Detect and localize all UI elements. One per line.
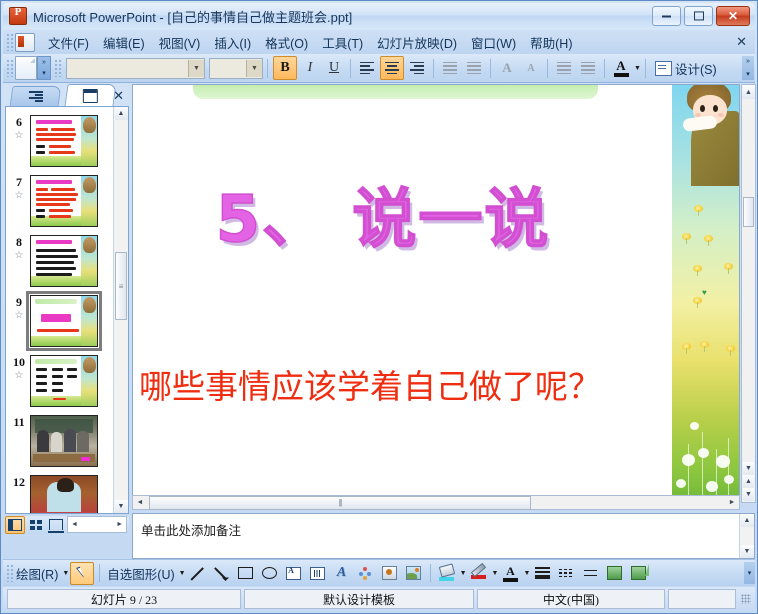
vertical-text-box-icon: [310, 567, 325, 580]
menu-item-window[interactable]: 窗口(W): [464, 30, 523, 55]
bold-button[interactable]: B: [273, 56, 297, 80]
increase-font-size-button[interactable]: A: [496, 57, 518, 79]
chevron-down-icon[interactable]: ▼: [188, 60, 204, 77]
thumbnail-meta: 9 ☆: [8, 295, 30, 321]
scroll-down-icon[interactable]: ▼: [741, 545, 754, 558]
powerpoint-icon: [9, 7, 27, 25]
text-box-icon: [286, 567, 301, 580]
new-document-icon[interactable]: [15, 56, 37, 80]
thumbnail-meta: 8 ☆: [8, 235, 30, 261]
slide-number: 9: [8, 295, 30, 310]
slide-canvas[interactable]: ♥ 5、 说一说 哪些事情应该学着自己做了呢？: [133, 85, 739, 504]
select-objects-button[interactable]: [70, 562, 94, 585]
menu-grip[interactable]: [6, 33, 13, 51]
cursor-arrow-icon: [78, 567, 87, 580]
toolbar-grip-standard[interactable]: [6, 59, 13, 77]
font-size-combo[interactable]: ▼: [209, 58, 263, 79]
align-right-button[interactable]: [406, 57, 428, 79]
list-item[interactable]: 11: [6, 411, 113, 471]
underline-icon: U: [329, 60, 339, 76]
heart-icon: ♥: [702, 288, 707, 297]
status-language[interactable]: 中文(中国): [477, 589, 665, 609]
title-bar: Microsoft PowerPoint - [自己的事情自己做主题班会.ppt…: [3, 3, 755, 29]
demote-button[interactable]: [577, 57, 599, 79]
close-icon: ✕: [717, 10, 749, 22]
arrow-style-icon: [583, 567, 598, 580]
demote-icon: [581, 62, 595, 74]
underline-button[interactable]: U: [323, 57, 345, 79]
dandelion-icon: [694, 205, 703, 214]
thumbnail-scrollbar[interactable]: ▲ ≡ ▼: [113, 107, 128, 513]
draw-menu-button[interactable]: 绘图(R): [13, 564, 61, 583]
close-pane-icon[interactable]: ✕: [113, 88, 124, 104]
powerpoint-window: Microsoft PowerPoint - [自己的事情自己做主题班会.ppt…: [0, 0, 758, 614]
menu-item-insert[interactable]: 插入(I): [207, 30, 258, 55]
menu-item-format[interactable]: 格式(O): [258, 30, 315, 55]
numbered-list-icon: [443, 62, 457, 74]
list-item[interactable]: 10 ☆: [6, 351, 113, 411]
notes-placeholder[interactable]: 单击此处添加备注: [133, 514, 739, 558]
arrow-style-button[interactable]: [579, 563, 601, 584]
slide-number: 8: [8, 235, 30, 250]
numbered-list-button[interactable]: [439, 57, 461, 79]
slide-number: 12: [8, 475, 30, 490]
clip-art-button[interactable]: [379, 563, 401, 584]
menu-item-slideshow[interactable]: 幻灯片放映(D): [370, 30, 464, 55]
slides-pane: ✕ 6 ☆: [5, 84, 129, 534]
thumbnail-meta: 6 ☆: [8, 115, 30, 141]
slide-show-icon: [49, 519, 63, 530]
dandelion-icon: [682, 343, 691, 352]
toolbar-separator: [350, 59, 351, 78]
slides-icon: [83, 89, 98, 103]
outline-icon: [28, 91, 42, 102]
chevron-down-icon[interactable]: ▼: [246, 60, 262, 77]
pane-tab-strip: ✕: [5, 84, 129, 106]
scroll-down-icon[interactable]: ▼: [743, 462, 754, 475]
line-color-icon: [471, 567, 486, 579]
menu-item-help[interactable]: 帮助(H): [523, 30, 579, 55]
autoshapes-chevron-down-icon[interactable]: ▼: [179, 570, 186, 577]
wordart-icon: A: [337, 565, 346, 581]
fill-color-chevron-down-icon[interactable]: ▼: [460, 570, 467, 577]
oval-button[interactable]: [259, 563, 281, 584]
toolbar-grip-formatting[interactable]: [54, 59, 61, 77]
toolbar-separator: [433, 59, 434, 78]
fill-color-icon: [439, 565, 454, 581]
thumbnail-scroll-content: 6 ☆: [6, 107, 113, 513]
arrow-button[interactable]: [211, 563, 233, 584]
rectangle-button[interactable]: [235, 563, 257, 584]
design-icon: [655, 61, 672, 76]
scroll-left-icon[interactable]: ◄: [68, 521, 81, 528]
list-item[interactable]: 7 ☆: [6, 171, 113, 231]
font-color-icon: A: [503, 565, 518, 582]
dandelion-icon: [682, 233, 691, 242]
picture-button[interactable]: [403, 563, 425, 584]
promote-icon: [557, 62, 571, 74]
decrease-font-icon: A: [527, 63, 534, 74]
slide-thumbnail[interactable]: [30, 475, 98, 513]
menu-item-tools[interactable]: 工具(T): [315, 30, 370, 55]
font-color-chevron-down-icon[interactable]: ▼: [634, 65, 641, 72]
increase-font-icon: A: [502, 60, 511, 76]
align-left-button[interactable]: [356, 57, 378, 79]
tab-outline[interactable]: [10, 86, 62, 106]
view-buttons-bar: ◄ ►: [5, 516, 129, 534]
text-box-button[interactable]: [283, 563, 305, 584]
slide-thumbnail-current[interactable]: [30, 295, 98, 347]
close-document-icon[interactable]: ✕: [736, 34, 747, 50]
line-color-button[interactable]: [468, 563, 490, 584]
drawing-toolbar-grip[interactable]: [6, 564, 13, 582]
pane-horizontal-scrollbar[interactable]: ◄ ►: [67, 516, 127, 533]
tab-slides[interactable]: [64, 84, 116, 106]
scrollbar-thumb[interactable]: |||: [149, 496, 531, 510]
dandelion-icon: [693, 297, 702, 306]
document-icon: [15, 33, 35, 52]
slide-thumbnail[interactable]: [30, 175, 98, 227]
autoshapes-menu-button[interactable]: 自选图形(U): [104, 564, 177, 583]
clip-art-icon: [382, 566, 397, 580]
thumbnail-meta: 10 ☆: [8, 355, 30, 381]
dandelion-icon: [693, 265, 702, 274]
formatting-toolbar-overflow-button[interactable]: »▾: [742, 56, 754, 80]
standard-toolbar-overflow-button[interactable]: »▾: [37, 56, 51, 80]
list-item[interactable]: 12: [6, 471, 113, 513]
window-title: Microsoft PowerPoint - [自己的事情自己做主题班会.ppt…: [33, 7, 652, 26]
font-color-button[interactable]: A: [610, 57, 632, 79]
bulleted-list-icon: [467, 62, 481, 74]
animation-star-icon: ☆: [8, 251, 30, 261]
slide-number: 7: [8, 175, 30, 190]
slide-number: 6: [8, 115, 30, 130]
toolbar-separator: [645, 59, 646, 78]
status-design-template[interactable]: 默认设计模板: [244, 589, 474, 609]
slide-sorter-icon: [30, 520, 42, 530]
slide-sorter-button[interactable]: [27, 517, 45, 533]
window-controls: ✕: [652, 6, 750, 26]
diagram-button[interactable]: [355, 563, 377, 584]
menu-item-view[interactable]: 视图(V): [152, 30, 208, 55]
slide-subtitle-text[interactable]: 哪些事情应该学着自己做了呢？: [139, 360, 669, 408]
slide-decoration-strip: ♥: [672, 85, 739, 504]
toolbar-separator: [604, 59, 605, 78]
italic-icon: I: [308, 60, 313, 76]
line-style-icon: [535, 567, 550, 578]
3d-style-button[interactable]: [627, 563, 649, 584]
align-center-button[interactable]: [380, 56, 404, 80]
slide-thumbnail[interactable]: [30, 115, 98, 167]
slide-title-text[interactable]: 5、 说一说: [183, 185, 583, 255]
scroll-right-icon[interactable]: ►: [725, 496, 739, 509]
menu-bar: 文件(F) 编辑(E) 视图(V) 插入(I) 格式(O) 工具(T) 幻灯片放…: [3, 30, 755, 54]
scroll-up-icon[interactable]: ▲: [742, 85, 755, 99]
picture-icon: [406, 566, 421, 580]
toolbar-separator: [490, 59, 491, 78]
slide-thumbnail[interactable]: [30, 235, 98, 287]
oval-icon: [262, 567, 277, 579]
status-extra: [668, 589, 736, 609]
dash-style-button[interactable]: [555, 563, 577, 584]
align-left-icon: [360, 62, 374, 74]
thumbnail-meta: 11: [8, 415, 30, 431]
line-icon: [191, 567, 204, 580]
line-style-button[interactable]: [531, 563, 553, 584]
status-bar: 幻灯片 9 / 23 默认设计模板 中文(中国): [3, 587, 755, 611]
scroll-left-icon[interactable]: ◄: [133, 496, 147, 509]
maximize-button[interactable]: [684, 6, 713, 26]
thumbnail-list: 6 ☆: [5, 106, 129, 514]
list-item-selected[interactable]: 9 ☆: [6, 291, 113, 351]
italic-button[interactable]: I: [299, 57, 321, 79]
font-color-chevron-down-icon-draw[interactable]: ▼: [523, 570, 530, 577]
menu-item-edit[interactable]: 编辑(E): [96, 30, 152, 55]
formatting-toolbar: »▾ ▼ ▼ B I U A A A: [3, 54, 755, 83]
fill-color-button[interactable]: [436, 563, 458, 584]
font-color-button-draw[interactable]: A: [499, 563, 521, 584]
vertical-text-box-button[interactable]: [307, 563, 329, 584]
animation-star-icon: ☆: [8, 371, 30, 381]
animation-star-icon: ☆: [8, 191, 30, 201]
close-button[interactable]: ✕: [716, 6, 750, 26]
dandelion-icon: [726, 345, 735, 354]
animation-star-icon: ☆: [8, 311, 30, 321]
resize-grip-icon[interactable]: [741, 594, 751, 604]
slide-number: 10: [8, 355, 30, 370]
minimize-button[interactable]: [652, 6, 681, 26]
font-name-combo[interactable]: ▼: [66, 58, 205, 79]
slide-editor[interactable]: ♥ 5、 说一说 哪些事情应该学着自己做了呢？: [132, 84, 740, 505]
normal-view-button[interactable]: [5, 516, 25, 534]
kid-illustration: [677, 84, 737, 186]
bulleted-list-button[interactable]: [463, 57, 485, 79]
slide-number: 11: [8, 415, 30, 430]
align-right-icon: [410, 62, 424, 74]
toolbar-separator: [547, 59, 548, 78]
bold-icon: B: [280, 60, 289, 76]
diagram-icon: [359, 567, 372, 580]
line-color-chevron-down-icon[interactable]: ▼: [492, 570, 499, 577]
list-item[interactable]: 8 ☆: [6, 231, 113, 291]
dandelion-icon: [724, 263, 733, 272]
design-button[interactable]: 设计(S): [650, 57, 722, 80]
animation-star-icon: ☆: [8, 131, 30, 141]
thumbnail-meta: 7 ☆: [8, 175, 30, 201]
slide-green-banner: [193, 84, 598, 99]
notes-pane[interactable]: 单击此处添加备注 ▲ ▼: [132, 513, 755, 559]
thumbnail-meta: 12: [8, 475, 30, 491]
promote-button[interactable]: [553, 57, 575, 79]
slide-horizontal-scrollbar[interactable]: ◄ ||| ►: [132, 495, 740, 510]
dandelion-icon: [704, 235, 713, 244]
scrollbar-thumb[interactable]: [743, 197, 754, 227]
previous-next-slide-buttons[interactable]: ▼ ▲ ▼: [743, 462, 754, 501]
toolbar-separator: [430, 564, 431, 582]
drawing-toolbar: 绘图(R) ▼ 自选图形(U) ▼ A ▼ ▼ A: [3, 559, 755, 586]
previous-slide-icon[interactable]: ▲: [743, 475, 754, 488]
normal-view-icon: [8, 519, 22, 531]
list-item[interactable]: 6 ☆: [6, 111, 113, 171]
slide-thumbnail[interactable]: [30, 355, 98, 407]
decrease-font-size-button[interactable]: A: [520, 57, 542, 79]
rectangle-icon: [238, 567, 253, 579]
wordart-button[interactable]: A: [331, 563, 353, 584]
scrollbar-thumb[interactable]: ≡: [115, 252, 127, 320]
design-label: 设计(S): [675, 59, 717, 78]
scroll-right-icon[interactable]: ►: [113, 521, 126, 528]
scroll-up-icon[interactable]: ▲: [115, 107, 128, 120]
shadow-style-button[interactable]: [603, 563, 625, 584]
dash-style-icon: [559, 569, 574, 578]
slide-thumbnail[interactable]: [30, 415, 98, 467]
line-button[interactable]: [187, 563, 209, 584]
next-slide-icon[interactable]: ▼: [743, 488, 754, 501]
font-color-icon: A: [614, 59, 629, 77]
shadow-style-icon: [607, 566, 622, 580]
menu-item-file[interactable]: 文件(F): [41, 30, 96, 55]
3d-style-icon: [631, 566, 646, 580]
toolbar-separator: [99, 564, 100, 582]
dandelion-icon: [700, 341, 709, 350]
toolbar-separator: [267, 59, 268, 78]
drawing-toolbar-overflow-button[interactable]: ▾: [744, 562, 755, 584]
align-center-icon: [385, 62, 399, 74]
scroll-up-icon[interactable]: ▲: [741, 514, 754, 527]
status-slide-info: 幻灯片 9 / 23: [7, 589, 241, 609]
slide-vertical-scrollbar[interactable]: ▲ ▼ ▲ ▼: [741, 84, 756, 503]
arrow-icon: [215, 567, 228, 580]
notes-scrollbar[interactable]: ▲ ▼: [739, 514, 754, 558]
slide-show-button[interactable]: [47, 517, 65, 533]
scroll-down-icon[interactable]: ▼: [115, 500, 128, 513]
draw-chevron-down-icon[interactable]: ▼: [62, 570, 69, 577]
